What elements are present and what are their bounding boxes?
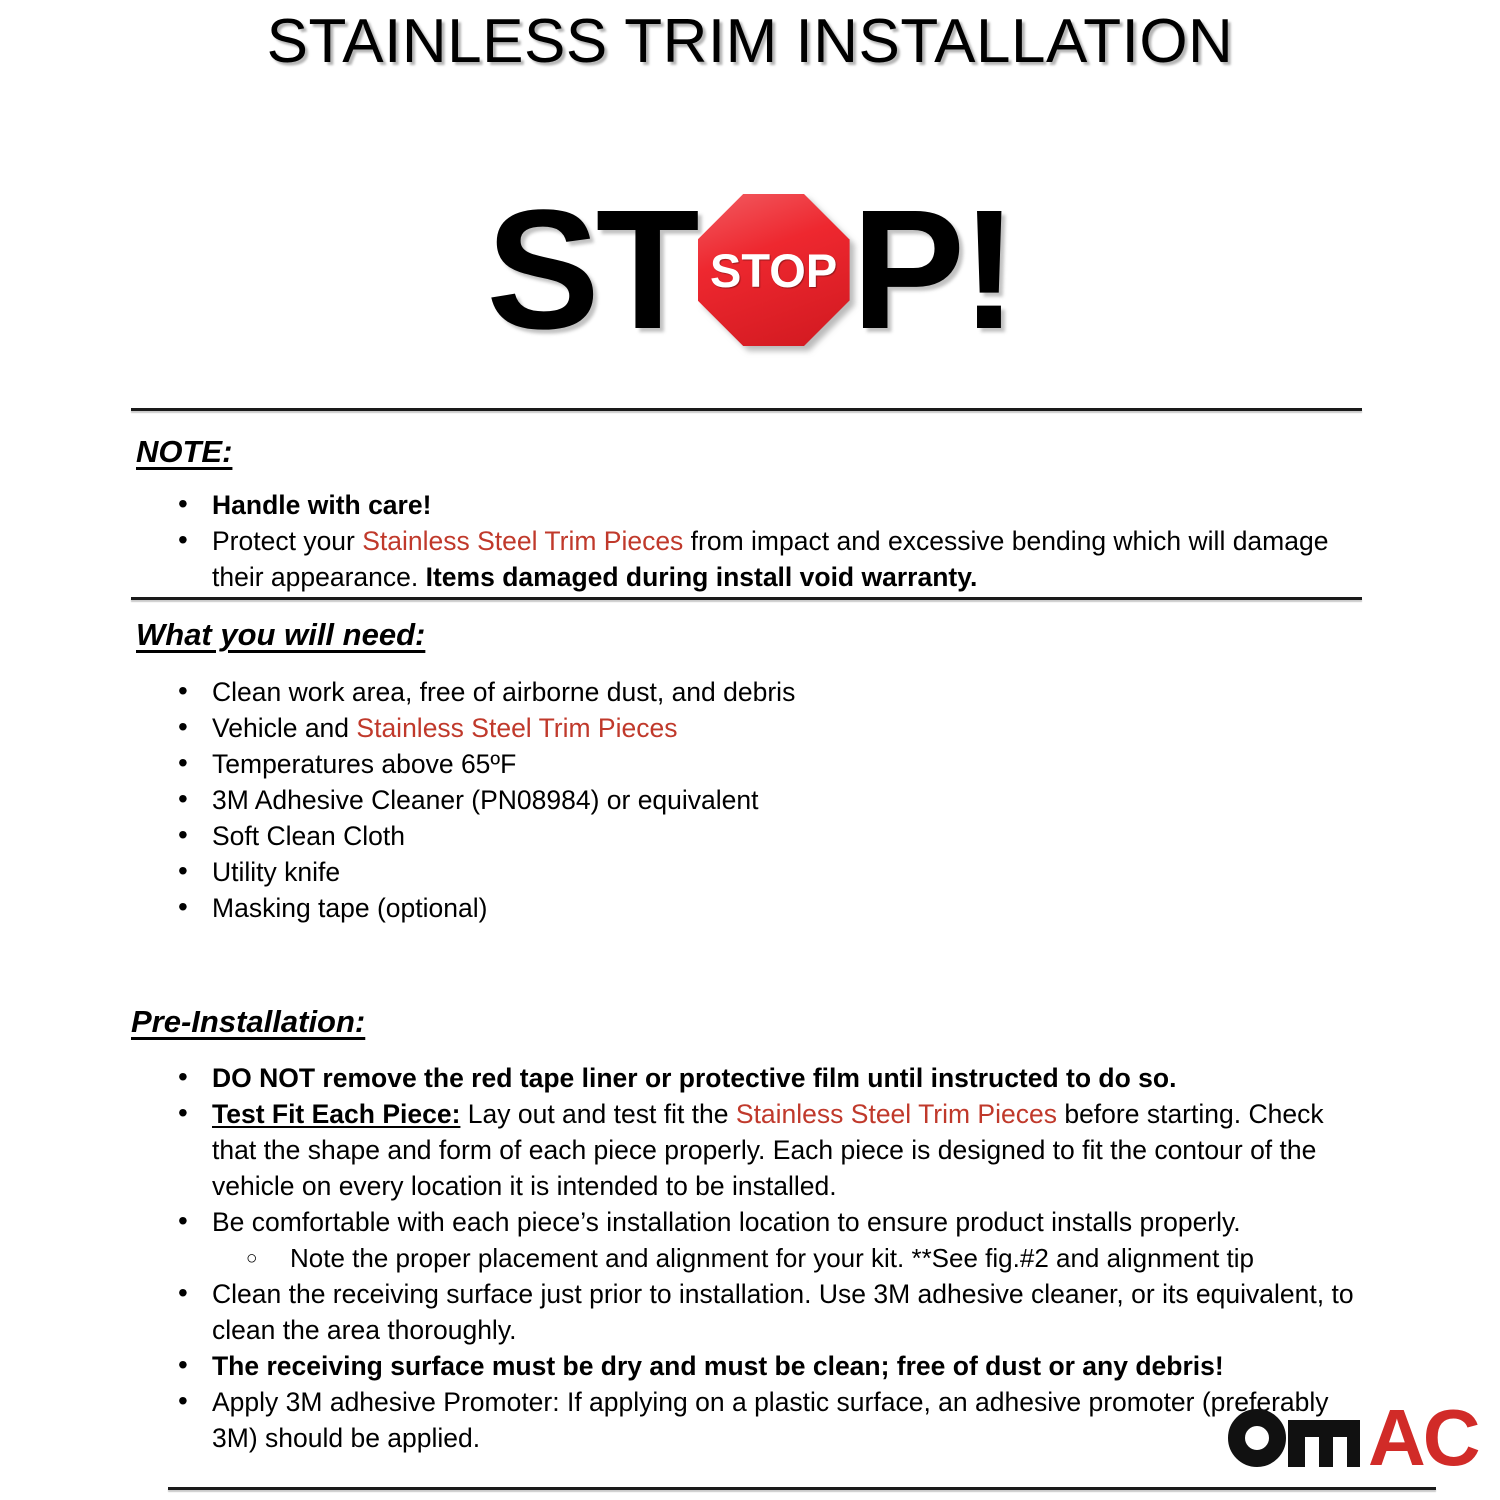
list-item: Handle with care! <box>168 487 1348 523</box>
list-item: Utility knife <box>168 854 1348 890</box>
preinstall-bullet-list: DO NOT remove the red tape liner or prot… <box>168 1060 1368 1456</box>
note-section-heading: NOTE: <box>136 434 232 470</box>
needs-bullet-list: Clean work area, free of airborne dust, … <box>168 674 1348 926</box>
stop-letters-before: ST <box>486 185 695 355</box>
stop-wordmark: ST STOP P! <box>486 185 1013 355</box>
divider-bottom <box>168 1487 1436 1490</box>
list-item: 3M Adhesive Cleaner (PN08984) or equival… <box>168 782 1348 818</box>
stop-sign-icon: STOP <box>698 194 850 346</box>
stop-graphic: ST STOP P! <box>0 175 1500 365</box>
divider-middle <box>131 597 1362 600</box>
list-item: Temperatures above 65ºF <box>168 746 1348 782</box>
omac-logo: AC OMAC <box>1228 1404 1478 1472</box>
needs-section-heading: What you will need: <box>136 617 425 653</box>
stop-letters-after: P! <box>852 185 1014 355</box>
note-bullet-list: Handle with care! Protect your Stainless… <box>168 487 1348 595</box>
omac-ac-text: AC <box>1368 1398 1478 1478</box>
list-item: Be comfortable with each piece’s install… <box>168 1204 1368 1240</box>
preinstall-section-heading: Pre-Installation: <box>131 1004 365 1040</box>
list-item: The receiving surface must be dry and mu… <box>168 1348 1368 1384</box>
list-item: Masking tape (optional) <box>168 890 1348 926</box>
omac-o-mark <box>1228 1409 1286 1467</box>
list-item: DO NOT remove the red tape liner or prot… <box>168 1060 1368 1096</box>
page-title: STAINLESS TRIM INSTALLATION <box>0 6 1500 77</box>
list-item: Test Fit Each Piece: Lay out and test fi… <box>168 1096 1368 1204</box>
list-item: Clean the receiving surface just prior t… <box>168 1276 1368 1348</box>
list-item: Vehicle and Stainless Steel Trim Pieces <box>168 710 1348 746</box>
list-item: Apply 3M adhesive Promoter: If applying … <box>168 1384 1368 1456</box>
list-item-sub: Note the proper placement and alignment … <box>168 1240 1368 1276</box>
omac-m-mark <box>1288 1420 1360 1467</box>
stop-sign-label: STOP <box>710 247 837 294</box>
list-item: Protect your Stainless Steel Trim Pieces… <box>168 523 1348 595</box>
list-item: Soft Clean Cloth <box>168 818 1348 854</box>
divider-top <box>131 408 1362 411</box>
list-item: Clean work area, free of airborne dust, … <box>168 674 1348 710</box>
